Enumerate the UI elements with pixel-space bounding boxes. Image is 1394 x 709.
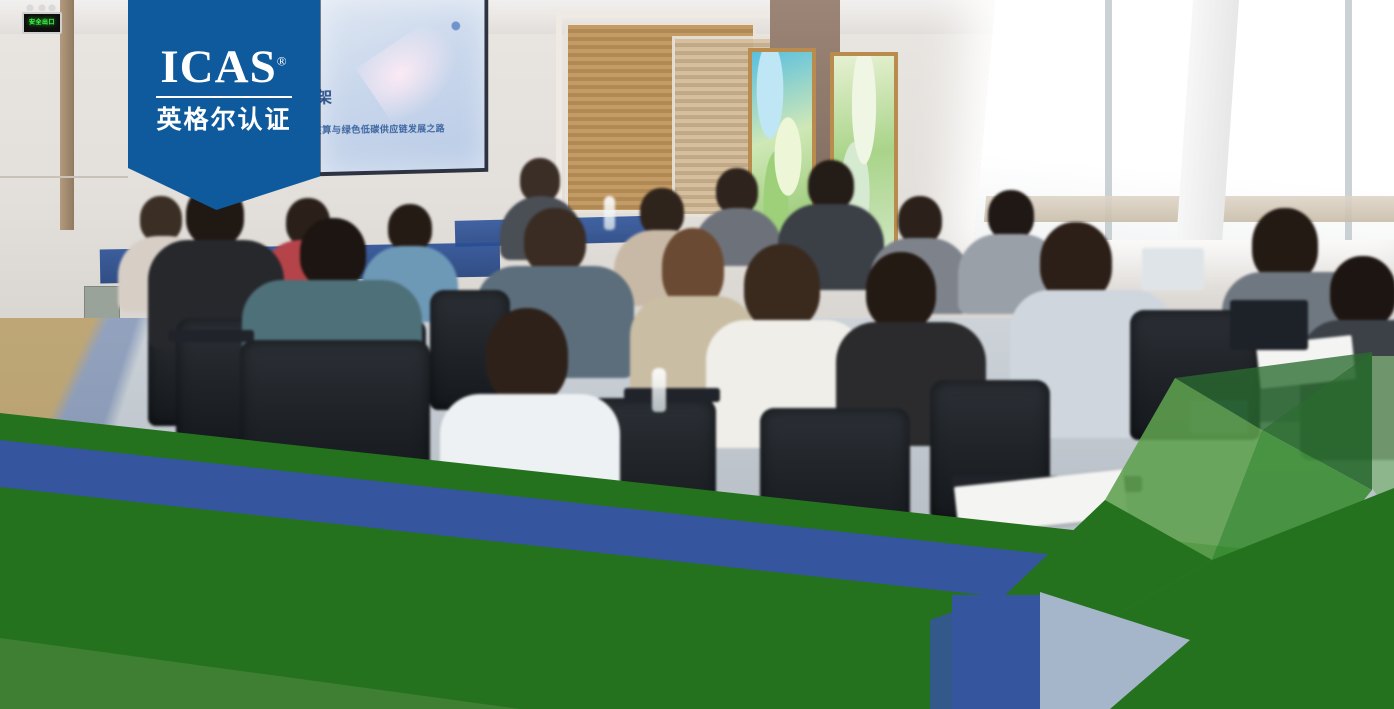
registered-trademark-icon: ® bbox=[277, 53, 288, 68]
event-banner: 安全出口 架 核算与绿色低碳供应链发展之路 bbox=[0, 0, 1394, 709]
chair bbox=[760, 408, 910, 544]
logo-divider bbox=[156, 96, 292, 98]
logo-wordmark: ICAS® bbox=[128, 44, 320, 91]
water-bottle bbox=[604, 196, 615, 230]
writing-tablet-arm bbox=[624, 388, 720, 402]
water-bottle bbox=[652, 368, 666, 412]
tablet-device bbox=[1142, 248, 1204, 290]
logo-brand-chinese: 英格尔认证 bbox=[128, 100, 320, 136]
paper-handout bbox=[843, 541, 990, 612]
laptop-device bbox=[1230, 300, 1308, 350]
chair bbox=[240, 340, 430, 480]
writing-tablet-arm bbox=[168, 330, 254, 342]
icas-logo-block: ICAS® 英格尔认证 bbox=[128, 0, 320, 210]
logo-brand-latin: ICAS bbox=[160, 41, 276, 93]
tablet-device bbox=[1190, 400, 1248, 434]
